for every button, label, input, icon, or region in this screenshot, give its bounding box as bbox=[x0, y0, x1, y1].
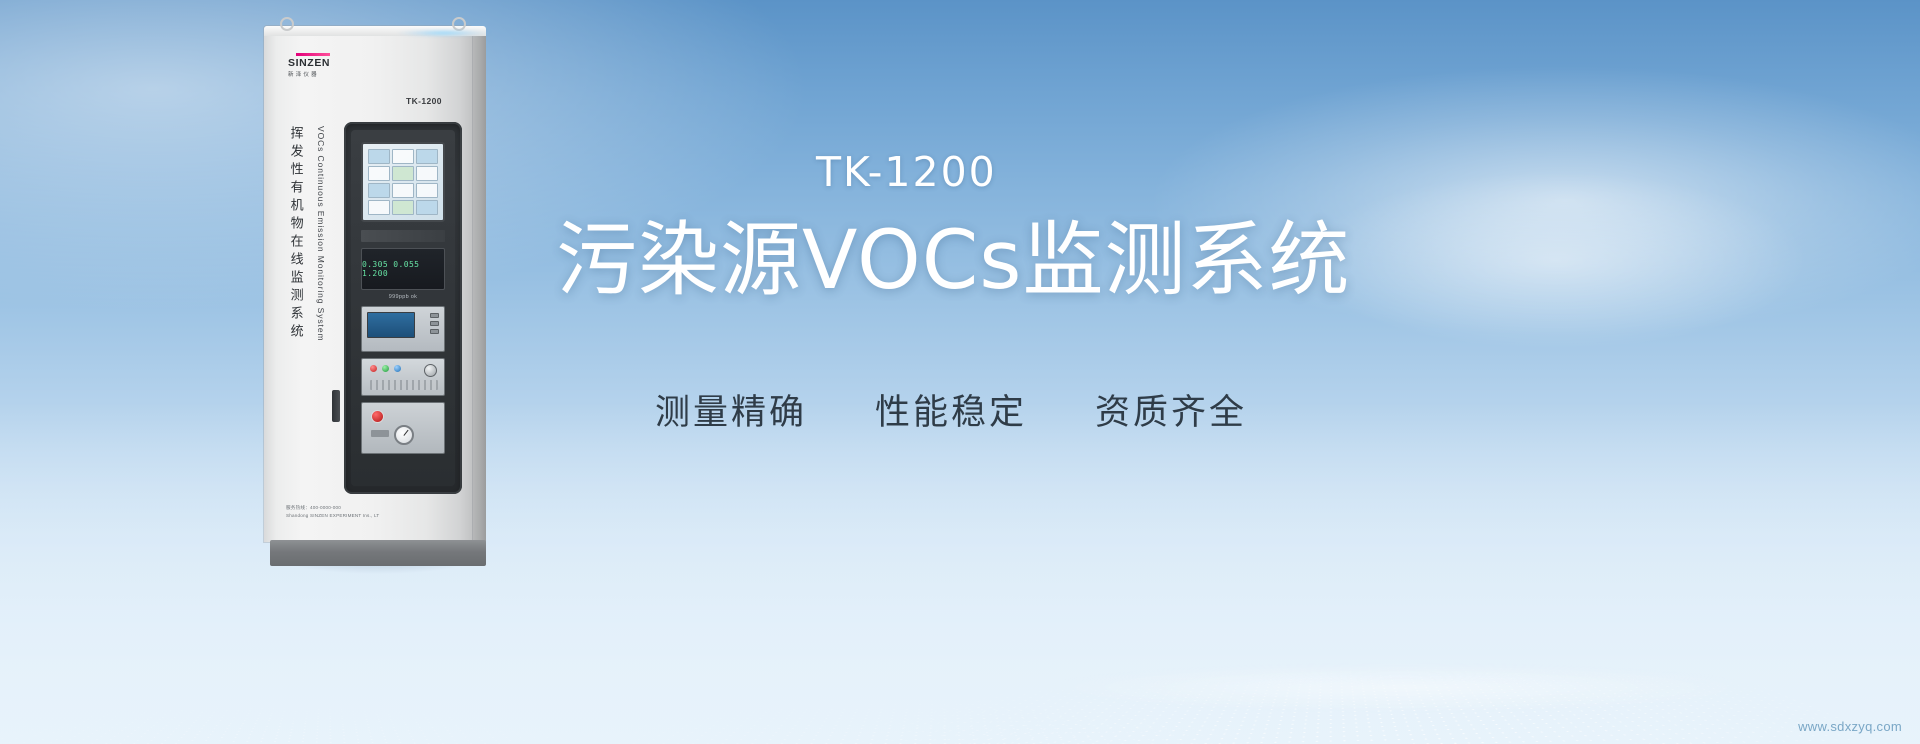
product-cabinet: SINZEN 新泽仪器 TK-1200 挥发性有机物在线监测系统 VOCs Co… bbox=[264, 26, 494, 566]
status-led-green-icon bbox=[382, 365, 389, 372]
cabinet-base-plinth bbox=[270, 540, 486, 566]
digital-readout-subtext: 999ppb ok bbox=[361, 294, 445, 300]
brand-logo-text: SINZEN bbox=[288, 57, 354, 69]
digital-readout-display: 0.305 0.055 1.200 bbox=[361, 248, 445, 290]
feature-item-1: 测量精确 bbox=[655, 384, 807, 435]
status-led-blue-icon bbox=[394, 365, 401, 372]
cabinet-door: 0.305 0.055 1.200 999ppb ok bbox=[344, 122, 462, 494]
hero-eyebrow-model: TK-1200 bbox=[816, 148, 997, 196]
hmi-touchscreen bbox=[361, 142, 445, 222]
cabinet-footer-text: 服务热线：400-0000-000 Shandong SINZEN EXPERI… bbox=[286, 504, 450, 520]
site-watermark: www.sdxzyq.com bbox=[1798, 719, 1902, 734]
cabinet-vertical-title-en: VOCs Continuous Emission Monitoring Syst… bbox=[316, 126, 326, 341]
brand-logo: SINZEN 新泽仪器 bbox=[288, 53, 354, 78]
analyzer-module-buttons bbox=[430, 313, 439, 334]
cabinet-vertical-title-cn: 挥发性有机物在线监测系统 bbox=[288, 126, 302, 342]
cabinet-side-panel bbox=[472, 30, 486, 542]
digital-readout-value: 0.305 0.055 1.200 bbox=[362, 260, 444, 278]
status-led-red-icon bbox=[370, 365, 377, 372]
module-label-slot bbox=[371, 430, 389, 437]
hero-banner: SINZEN 新泽仪器 TK-1200 挥发性有机物在线监测系统 VOCs Co… bbox=[0, 0, 1920, 744]
hmi-cell bbox=[368, 200, 390, 215]
analyzer-module-middle bbox=[361, 358, 445, 396]
hmi-cell bbox=[392, 200, 414, 215]
module-button bbox=[430, 321, 439, 326]
hmi-cell bbox=[416, 183, 438, 198]
hero-content: TK-1200 污染源VOCs监测系统 测量精确 性能稳定 资质齐全 bbox=[556, 0, 1556, 744]
hmi-cell bbox=[368, 166, 390, 181]
cabinet-door-inner: 0.305 0.055 1.200 999ppb ok bbox=[351, 130, 455, 486]
hmi-cell bbox=[392, 183, 414, 198]
hmi-cell bbox=[368, 183, 390, 198]
feature-item-2: 性能稳定 bbox=[875, 384, 1027, 435]
hmi-cell bbox=[368, 149, 390, 164]
hmi-cell bbox=[416, 149, 438, 164]
analyzer-module-screen bbox=[367, 312, 415, 338]
analyzer-module-upper bbox=[361, 306, 445, 352]
hmi-screen-grid bbox=[368, 149, 438, 215]
hmi-cell bbox=[416, 200, 438, 215]
module-button bbox=[430, 313, 439, 318]
feature-item-3: 资质齐全 bbox=[1095, 384, 1247, 435]
hmi-cell bbox=[416, 166, 438, 181]
logo-accent-bar-icon bbox=[296, 53, 330, 56]
lifting-eyebolt-left-icon bbox=[280, 17, 294, 31]
cabinet-model-label: TK-1200 bbox=[406, 96, 442, 106]
cabinet-front-panel: SINZEN 新泽仪器 TK-1200 挥发性有机物在线监测系统 VOCs Co… bbox=[264, 26, 472, 542]
hmi-cell bbox=[392, 149, 414, 164]
brand-logo-cn-text: 新泽仪器 bbox=[288, 70, 354, 78]
cabinet-door-handle bbox=[332, 390, 340, 422]
module-button bbox=[430, 329, 439, 334]
hero-headline: 污染源VOCs监测系统 bbox=[556, 218, 1346, 305]
pressure-gauge-icon bbox=[394, 425, 414, 445]
analyzer-module-lower bbox=[361, 402, 445, 454]
hero-feature-list: 测量精确 性能稳定 资质齐全 bbox=[556, 384, 1346, 435]
cabinet-footer-line-1: 服务热线：400-0000-000 bbox=[286, 504, 450, 512]
panel-divider-strip bbox=[361, 230, 445, 242]
tubing-bundle bbox=[370, 380, 438, 390]
cabinet-footer-line-2: Shandong SINZEN EXPERIMENT Ins., LT bbox=[286, 512, 450, 520]
control-knob-icon bbox=[424, 364, 437, 377]
hmi-cell bbox=[392, 166, 414, 181]
emergency-stop-button-icon bbox=[371, 410, 384, 423]
cabinet-edge-glow bbox=[384, 29, 504, 37]
